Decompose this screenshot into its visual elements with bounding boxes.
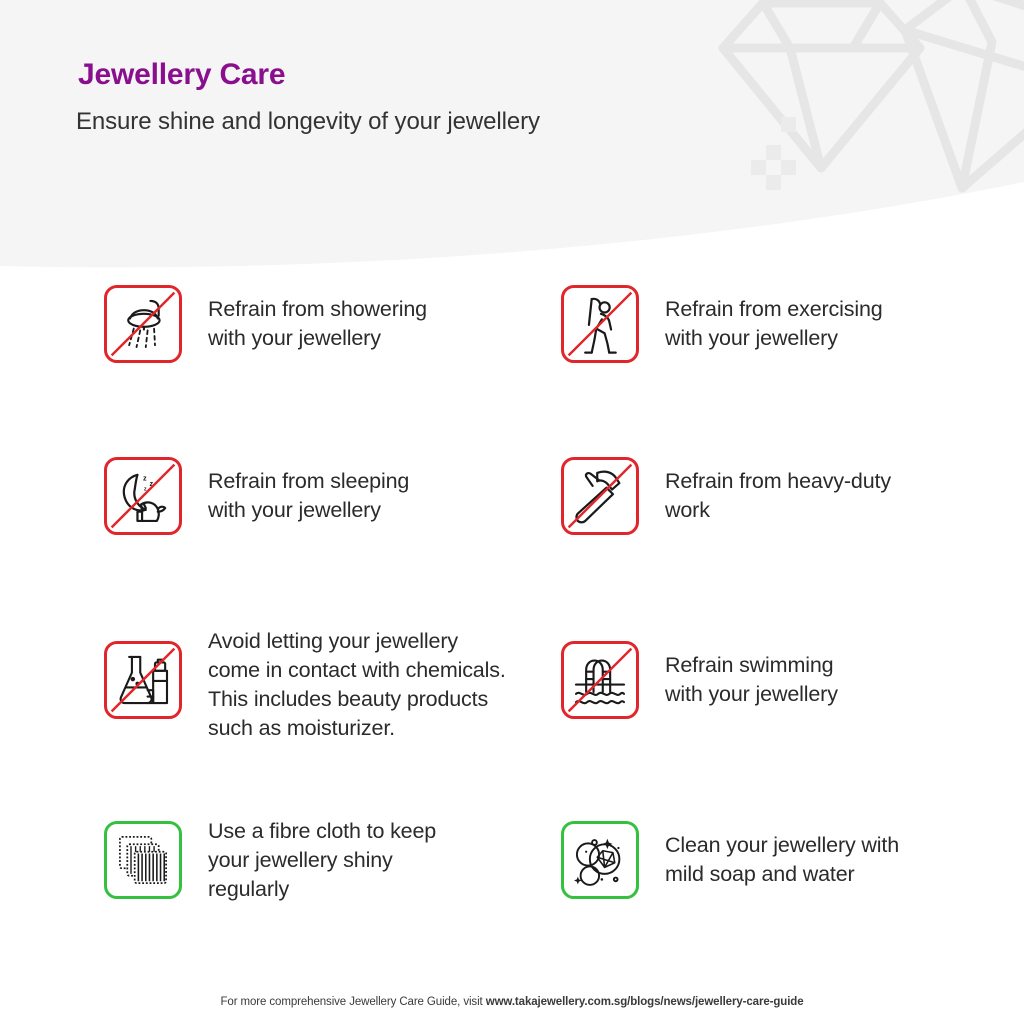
tip-sleeping: z z z Refrain from sleeping with your je… (104, 457, 534, 535)
fibre-cloth-stack-icon (104, 821, 182, 899)
tip-label: Refrain from heavy-duty work (665, 467, 891, 525)
moon-sleeping-cat-icon: z z z (104, 457, 182, 535)
tip-label: Clean your jewellery with mild soap and … (665, 831, 899, 889)
tip-label: Use a fibre cloth to keep your jewellery… (208, 817, 436, 904)
exercise-person-icon (561, 285, 639, 363)
hammer-icon (561, 457, 639, 535)
tip-mild-soap: Clean your jewellery with mild soap and … (561, 821, 991, 899)
tip-chemicals: Avoid letting your jewellery come in con… (104, 641, 554, 743)
footer-url[interactable]: www.takajewellery.com.sg/blogs/news/jewe… (486, 996, 804, 1008)
tip-swimming: Refrain swimming with your jewellery (561, 641, 991, 719)
tip-label: Avoid letting your jewellery come in con… (208, 627, 506, 743)
tip-exercising: Refrain from exercising with your jewell… (561, 285, 991, 363)
chemicals-flask-icon (104, 641, 182, 719)
footer-prefix: For more comprehensive Jewellery Care Gu… (220, 996, 485, 1008)
swimming-pool-ladder-icon (561, 641, 639, 719)
svg-text:z: z (143, 473, 147, 482)
gem-bubbles-sparkle-icon (561, 821, 639, 899)
tips-grid: Refrain from showering with your jewelle… (0, 0, 1024, 1024)
tip-fibre-cloth: Use a fibre cloth to keep your jewellery… (104, 821, 534, 904)
tip-label: Refrain from showering with your jewelle… (208, 295, 427, 353)
tip-label: Refrain from sleeping with your jeweller… (208, 467, 409, 525)
tip-label: Refrain swimming with your jewellery (665, 651, 838, 709)
tip-label: Refrain from exercising with your jewell… (665, 295, 883, 353)
footer: For more comprehensive Jewellery Care Gu… (0, 996, 1024, 1008)
tip-showering: Refrain from showering with your jewelle… (104, 285, 534, 363)
shower-icon (104, 285, 182, 363)
tip-heavy-duty-work: Refrain from heavy-duty work (561, 457, 991, 535)
